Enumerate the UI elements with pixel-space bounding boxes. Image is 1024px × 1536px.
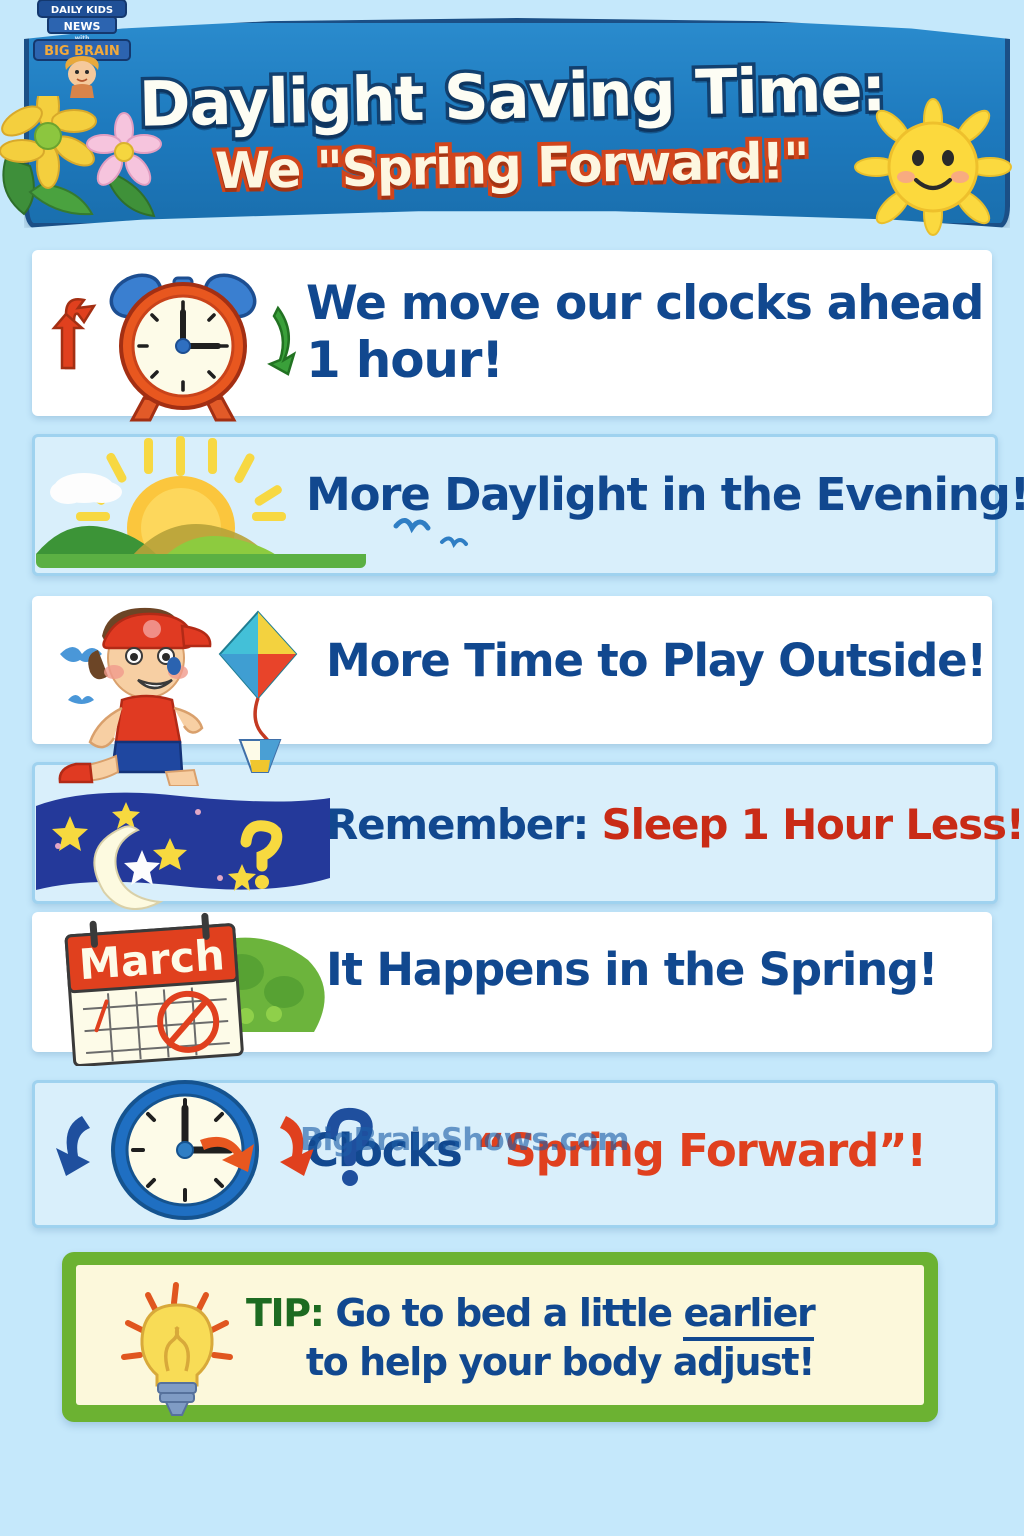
row-sleep-less-prefix: Remember: xyxy=(326,800,602,849)
tip-line-2: to help your body adjust! xyxy=(246,1338,904,1387)
row-clocks-ahead-text: We move our clocks ahead 1 hour! xyxy=(306,250,983,416)
brand-logo[interactable]: DAILY KIDS NEWS with BIG BRAIN xyxy=(26,0,138,98)
row-more-daylight-text: More Daylight in the Evening! xyxy=(306,434,1024,570)
lightbulb-icon xyxy=(114,1279,244,1419)
page-subtitle: We "Spring Forward!" xyxy=(215,131,809,199)
row-play-outside-text: More Time to Play Outside! xyxy=(326,596,986,744)
row-happens-in-spring-line1: It Happens in the Spring! xyxy=(326,946,937,993)
row-sleep-less-highlight: Sleep 1 Hour Less! xyxy=(602,800,1024,849)
tip-label: TIP: xyxy=(246,1291,324,1335)
row-play-outside-line1: More Time to Play Outside! xyxy=(326,637,986,684)
tip-box: TIP: Go to bed a little earlier to help … xyxy=(62,1252,938,1422)
tip-box-inner: TIP: Go to bed a little earlier to help … xyxy=(76,1265,924,1405)
header: Daylight Saving Time: We "Spring Forward… xyxy=(0,0,1024,240)
tip-line-1b: earlier xyxy=(683,1291,814,1341)
tip-line-1a: Go to bed a little xyxy=(324,1291,684,1335)
row-happens-in-spring-text: It Happens in the Spring! xyxy=(326,912,937,1052)
logo-line1: DAILY KIDS xyxy=(51,5,113,16)
page-title: Daylight Saving Time: xyxy=(138,52,886,141)
tip-text: TIP: Go to bed a little earlier to help … xyxy=(246,1289,904,1386)
logo-line2: NEWS xyxy=(64,20,101,33)
row-clocks-ahead-line2: 1 hour! xyxy=(306,334,983,387)
smiling-sun-icon xyxy=(848,92,1018,242)
big-brain-kid-mascot-icon xyxy=(65,56,98,98)
row-sleep-less-line1: Remember: Sleep 1 Hour Less! xyxy=(326,803,1024,847)
flowers-icon xyxy=(0,96,206,226)
row-clocks-ahead-line1: We move our clocks ahead xyxy=(306,279,983,328)
watermark: BigBrainShows.com xyxy=(300,1122,629,1158)
row-sleep-less-text: Remember: Sleep 1 Hour Less! xyxy=(326,762,1024,898)
tip-line-1: TIP: Go to bed a little earlier xyxy=(246,1289,904,1338)
row-more-daylight-line1: More Daylight in the Evening! xyxy=(306,471,1024,518)
infographic-page: Daylight Saving Time: We "Spring Forward… xyxy=(0,0,1024,1536)
